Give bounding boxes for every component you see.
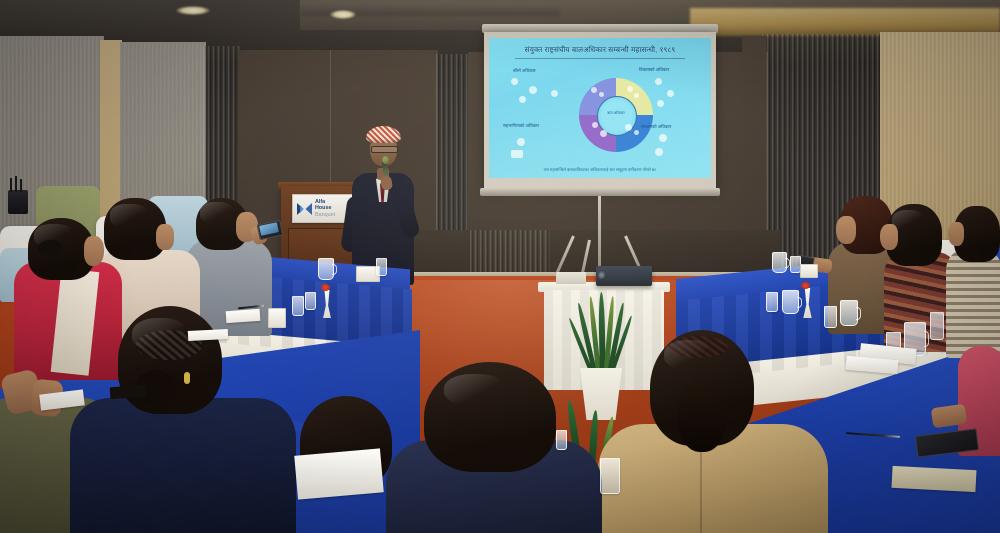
pen-in-holder <box>15 176 17 192</box>
projection-screen: संयुक्त राष्ट्रसंघीय बालअधिकार सम्बन्धी … <box>484 32 716 190</box>
child-pictogram <box>591 87 597 93</box>
quadrant-label-development: विकासको अधिकार <box>639 67 669 73</box>
side-icon <box>551 90 558 97</box>
venue-sign-text: Alfa House Banquet <box>315 199 335 218</box>
screen-bottom-bar <box>480 188 720 196</box>
drinking-glass <box>766 292 778 312</box>
bowtie-logo-icon <box>297 202 312 216</box>
child-pictogram <box>634 93 639 98</box>
side-icon <box>667 90 674 97</box>
wine-glass <box>930 312 944 340</box>
side-icon <box>659 134 667 142</box>
water-pitcher <box>782 290 799 314</box>
wall-dado <box>360 230 780 276</box>
hair-tie <box>668 336 728 358</box>
flower <box>321 284 330 291</box>
slide-content: संयुक्त राष्ट्रसंघीय बालअधिकार सम्बन्धी … <box>489 38 711 178</box>
attendee-face <box>84 236 104 266</box>
drinking-glass <box>376 258 387 276</box>
attendee-torso <box>70 398 296 533</box>
side-icon <box>511 150 523 158</box>
ceiling-downlight <box>330 10 356 19</box>
side-icon <box>529 86 537 94</box>
child-pictogram <box>634 130 639 135</box>
microphone-head <box>382 156 389 164</box>
notepad <box>226 309 261 323</box>
drinking-glass <box>600 458 620 494</box>
attendee-face <box>156 224 174 250</box>
venue-name-line3: Banquet <box>315 212 335 218</box>
slide-title: संयुक्त राष्ट्रसंघीय बालअधिकार सम्बन्धी … <box>489 45 711 55</box>
conference-photo: संयुक्त राष्ट्रसंघीय बालअधिकार सम्बन्धी … <box>0 0 1000 533</box>
side-icon <box>519 96 526 103</box>
drinking-glass <box>292 296 304 316</box>
hair-highlight <box>200 202 234 224</box>
child-pictogram <box>625 124 632 131</box>
document <box>891 466 976 492</box>
donut-center-label: बाल अधिकार <box>603 111 629 116</box>
slide-caption: यस महासन्धिले बालबालिकाका अधिकारलाई चार … <box>501 167 699 173</box>
water-pitcher <box>318 258 334 280</box>
child-pictogram <box>627 86 633 92</box>
attendee-face <box>948 222 964 246</box>
slide-title-underline <box>515 58 685 59</box>
drinking-glass <box>305 292 316 310</box>
side-icon <box>511 78 518 85</box>
side-icon <box>517 138 525 146</box>
flower <box>801 282 810 289</box>
ceiling-downlight <box>176 6 210 15</box>
child-pictogram <box>600 130 607 137</box>
side-icon <box>655 78 662 85</box>
hair-highlight <box>444 374 506 406</box>
ponytail <box>678 380 726 452</box>
quadrant-label-survival: बाँच्ने अधिकार <box>513 68 536 74</box>
tripod-mast <box>598 196 601 272</box>
pen-in-holder <box>20 179 22 192</box>
hair-bun <box>38 240 62 256</box>
pen-holder <box>8 190 28 214</box>
rights-donut-diagram: बाल अधिकार <box>579 78 653 152</box>
drinking-glass <box>556 430 567 450</box>
dhaka-topi-icon <box>366 126 401 143</box>
side-icon <box>657 100 664 107</box>
drinking-glass <box>824 306 837 328</box>
quadrant-label-participation: सहभागिताको अधिकार <box>503 123 539 129</box>
notepad <box>188 329 228 341</box>
water-pitcher <box>772 252 787 273</box>
attendee-face <box>836 216 856 244</box>
pen-in-holder <box>10 178 12 192</box>
water-pitcher <box>840 300 858 326</box>
hair-highlight <box>110 204 148 228</box>
earring <box>184 372 190 384</box>
projector-lens <box>598 271 605 279</box>
attendee-face <box>880 224 898 250</box>
child-pictogram <box>599 92 604 97</box>
presenter-glasses <box>371 146 398 153</box>
quadrant-label-protection: संरक्षणको अधिकार <box>641 124 671 130</box>
notepad <box>294 448 384 499</box>
eyeglass-case <box>110 385 147 399</box>
laptop-on-table <box>556 272 586 284</box>
tissue-box <box>268 308 286 328</box>
side-icon <box>655 148 663 156</box>
child-pictogram <box>592 122 598 128</box>
dado-slat-insert <box>470 230 550 276</box>
tissue-box <box>800 264 818 278</box>
attendee-torso <box>946 248 1000 358</box>
